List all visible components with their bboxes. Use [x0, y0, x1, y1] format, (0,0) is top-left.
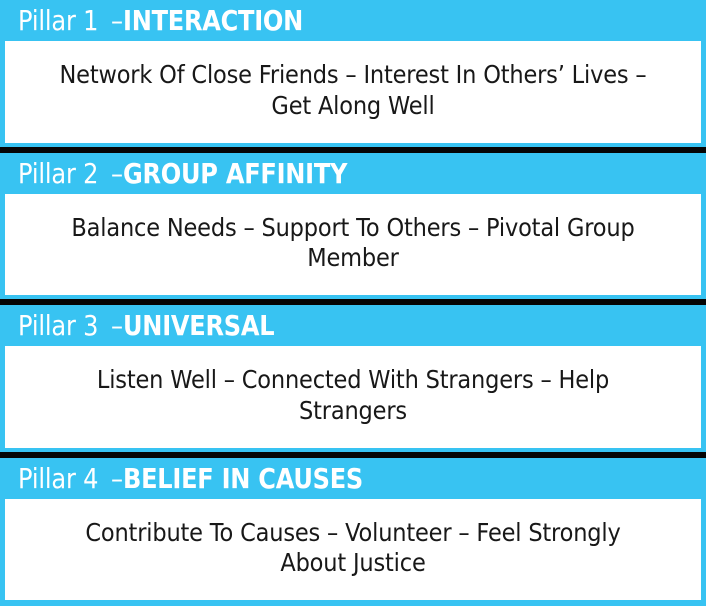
pillar-separator-4: – [111, 465, 123, 493]
bottom-edge [0, 600, 706, 606]
pillar-section-4: Pillar 4 – BELIEF IN CAUSES Contribute T… [0, 458, 706, 601]
pillar-label-3: Pillar 3 [18, 312, 98, 340]
pillar-section-2: Pillar 2 – GROUP AFFINITY Balance Needs … [0, 153, 706, 296]
pillar-title-1: INTERACTION [123, 7, 303, 35]
pillar-body-1: Network Of Close Friends – Interest In O… [5, 41, 701, 143]
pillar-title-2: GROUP AFFINITY [123, 160, 347, 188]
pillars-infographic: Pillar 1 – INTERACTION Network Of Close … [0, 0, 706, 606]
pillar-separator-3: – [111, 312, 123, 340]
pillar-label-4: Pillar 4 [18, 465, 98, 493]
pillar-divider-1 [0, 143, 706, 153]
pillar-description-2: Balance Needs – Support To Others – Pivo… [52, 213, 653, 274]
pillar-header-3: Pillar 3 – UNIVERSAL [0, 305, 706, 346]
pillar-body-2: Balance Needs – Support To Others – Pivo… [5, 194, 701, 296]
pillar-section-3: Pillar 3 – UNIVERSAL Listen Well – Conne… [0, 305, 706, 448]
pillar-label-2: Pillar 2 [18, 160, 98, 188]
pillar-header-1: Pillar 1 – INTERACTION [0, 0, 706, 41]
pillar-description-4: Contribute To Causes – Volunteer – Feel … [52, 518, 653, 579]
pillar-title-4: BELIEF IN CAUSES [123, 465, 363, 493]
pillar-description-1: Network Of Close Friends – Interest In O… [52, 60, 653, 121]
pillar-title-3: UNIVERSAL [123, 312, 274, 340]
pillar-divider-3 [0, 448, 706, 458]
pillar-separator-1: – [111, 7, 123, 35]
pillar-body-3: Listen Well – Connected With Strangers –… [5, 346, 701, 448]
pillar-body-wrap-3: Listen Well – Connected With Strangers –… [0, 346, 706, 448]
pillar-body-wrap-4: Contribute To Causes – Volunteer – Feel … [0, 499, 706, 601]
pillar-divider-2 [0, 295, 706, 305]
pillar-body-wrap-1: Network Of Close Friends – Interest In O… [0, 41, 706, 143]
pillar-body-wrap-2: Balance Needs – Support To Others – Pivo… [0, 194, 706, 296]
pillar-header-2: Pillar 2 – GROUP AFFINITY [0, 153, 706, 194]
pillar-body-4: Contribute To Causes – Volunteer – Feel … [5, 499, 701, 601]
pillar-description-3: Listen Well – Connected With Strangers –… [52, 365, 653, 426]
pillar-header-4: Pillar 4 – BELIEF IN CAUSES [0, 458, 706, 499]
pillar-label-1: Pillar 1 [18, 7, 98, 35]
pillar-section-1: Pillar 1 – INTERACTION Network Of Close … [0, 0, 706, 143]
pillar-separator-2: – [111, 160, 123, 188]
